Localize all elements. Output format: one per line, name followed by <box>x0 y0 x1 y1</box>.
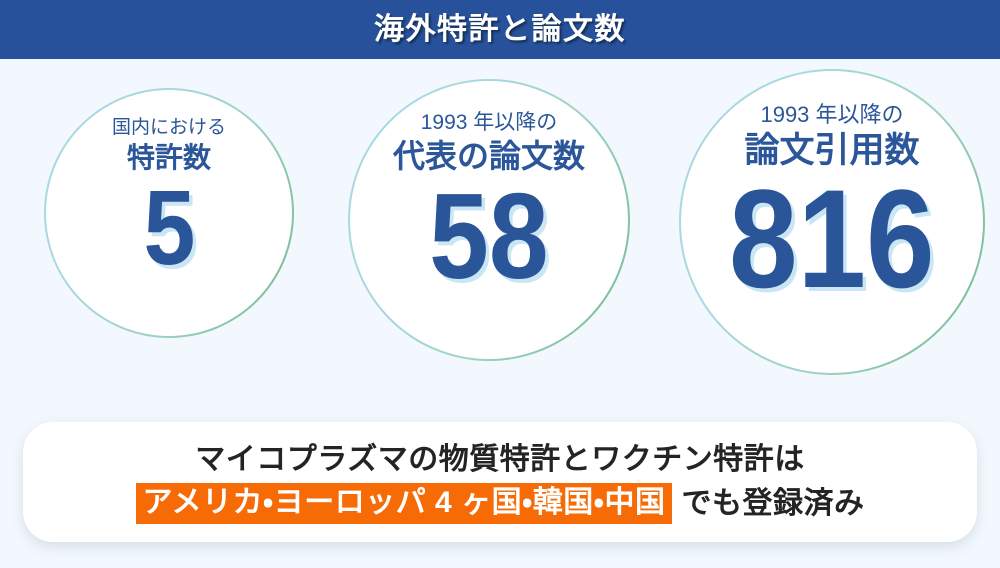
stat-circle-inner: 1993 年以降の 代表の論文数 58 <box>350 81 628 359</box>
footer-line-2: アメリカ・ヨーロッパ 4 ヶ国・韓国・中国 でも登録済み <box>136 483 865 524</box>
stat-circle-papers: 1993 年以降の 代表の論文数 58 <box>348 79 630 361</box>
stat-value: 5 <box>143 180 195 278</box>
infographic-page: 海外特許と論文数 国内における 特許数 5 1993 年以降の 代表の論文数 5… <box>0 0 1000 568</box>
footer-note-panel: マイコプラズマの物質特許とワクチン特許は アメリカ・ヨーロッパ 4 ヶ国・韓国・… <box>23 422 977 542</box>
stat-circle-inner: 1993 年以降の 論文引用数 816 <box>681 71 983 373</box>
stat-value: 816 <box>729 175 935 304</box>
stat-circle-row: 国内における 特許数 5 1993 年以降の 代表の論文数 58 1993 年以… <box>0 59 1000 414</box>
stat-kicker: 1993 年以降の <box>421 111 558 134</box>
page-title: 海外特許と論文数 <box>374 15 626 45</box>
stat-kicker: 1993 年以降の <box>760 103 903 127</box>
stat-kicker: 国内における <box>112 118 226 139</box>
footer-line-1: マイコプラズマの物質特許とワクチン特許は <box>195 440 804 480</box>
stat-circle-patents: 国内における 特許数 5 <box>44 88 294 338</box>
stat-circle-citations: 1993 年以降の 論文引用数 816 <box>679 69 985 375</box>
header-bar: 海外特許と論文数 <box>0 0 1000 59</box>
stat-circle-inner: 国内における 特許数 5 <box>46 90 292 336</box>
footer-tail-text: でも登録済み <box>672 484 864 524</box>
footer-highlight-countries: アメリカ・ヨーロッパ 4 ヶ国・韓国・中国 <box>136 483 673 524</box>
stat-value: 58 <box>429 180 548 292</box>
